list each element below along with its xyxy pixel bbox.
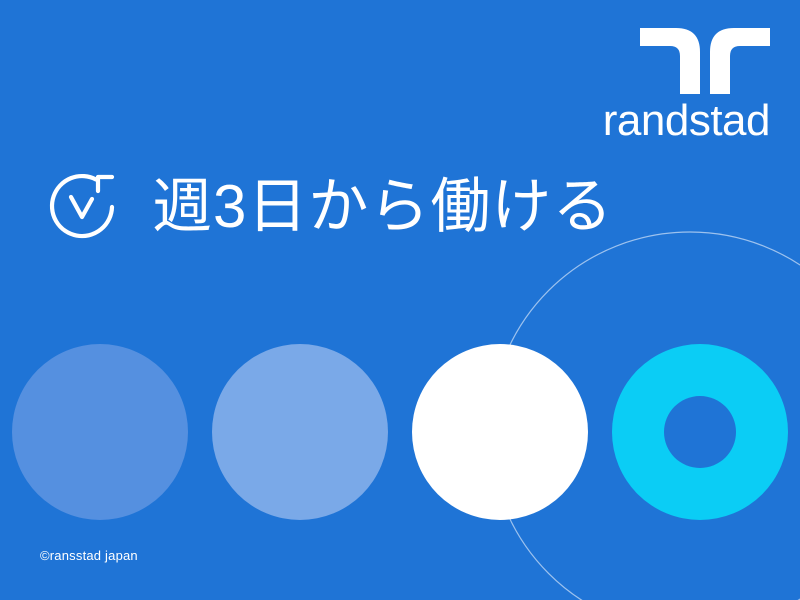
circle-light-blue-1	[12, 344, 188, 520]
circle-light-blue-2	[212, 344, 388, 520]
decorative-circle-row	[0, 344, 800, 520]
brand-logo: randstad	[603, 22, 770, 144]
donut-hole	[664, 396, 736, 468]
headline-row: 週3日から働ける	[44, 162, 613, 252]
headline-text: 週3日から働ける	[152, 172, 613, 242]
banner-root: randstad 週3日から働ける ©ransstad japan	[0, 0, 800, 600]
randstad-wordmark: randstad	[603, 98, 770, 144]
copyright-text: ©ransstad japan	[40, 548, 138, 564]
rotating-clock-icon	[44, 169, 120, 245]
randstad-y-mark-icon	[640, 22, 770, 94]
circle-white	[412, 344, 588, 520]
circle-cyan-donut	[612, 344, 788, 520]
